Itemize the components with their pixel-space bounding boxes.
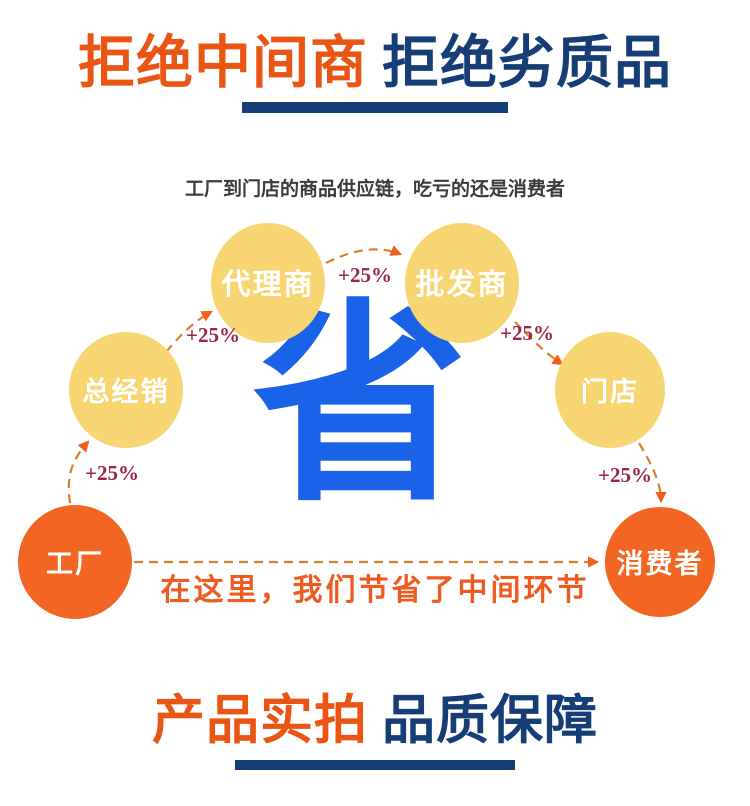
bottom-headline-orange: 产品实拍 — [152, 691, 368, 750]
bottom-headline-underline — [235, 760, 515, 770]
node-distributor[interactable]: 总经销 — [69, 332, 183, 448]
edge-agent-to-wholesaler — [326, 249, 400, 263]
node-store[interactable]: 门店 — [555, 332, 665, 448]
bottom-headline: 产品实拍品质保障 — [0, 694, 750, 748]
node-consumer[interactable]: 消费者 — [605, 507, 715, 617]
node-factory-label: 工厂 — [46, 549, 104, 579]
top-banner: 拒绝中间商拒绝劣质品 — [0, 34, 750, 113]
bottom-headline-navy: 品质保障 — [382, 691, 598, 750]
edge-label-factory-to-distributor: +25% — [85, 461, 139, 485]
top-headline: 拒绝中间商拒绝劣质品 — [0, 34, 750, 92]
node-distributor-label: 总经销 — [83, 376, 170, 407]
bottom-banner: 产品实拍品质保障 — [0, 694, 750, 770]
edge-label-wholesaler-to-store: +25% — [500, 321, 554, 345]
diagram-caption: 工厂到门店的商品供应链，吃亏的还是消费者 — [185, 177, 565, 200]
top-headline-underline — [242, 102, 508, 113]
edge-label-distributor-to-agent: +25% — [186, 323, 240, 347]
top-headline-orange: 拒绝中间商 — [78, 31, 368, 95]
node-agent-label: 代理商 — [220, 268, 314, 301]
node-store-label: 门店 — [581, 377, 639, 407]
supply-chain-diagram: 工厂到门店的商品供应链，吃亏的还是消费者 省 工厂 总经销 代理商 — [0, 170, 750, 640]
edge-label-store-to-consumer: +25% — [598, 463, 652, 487]
savings-note: 在这里，我们节省了中间环节 — [161, 573, 590, 607]
edge-label-agent-to-wholesaler: +25% — [338, 263, 392, 287]
node-wholesaler-label: 批发商 — [415, 268, 508, 301]
top-headline-navy: 拒绝劣质品 — [382, 31, 672, 95]
node-consumer-label: 消费者 — [617, 549, 704, 579]
node-factory[interactable]: 工厂 — [18, 505, 132, 619]
